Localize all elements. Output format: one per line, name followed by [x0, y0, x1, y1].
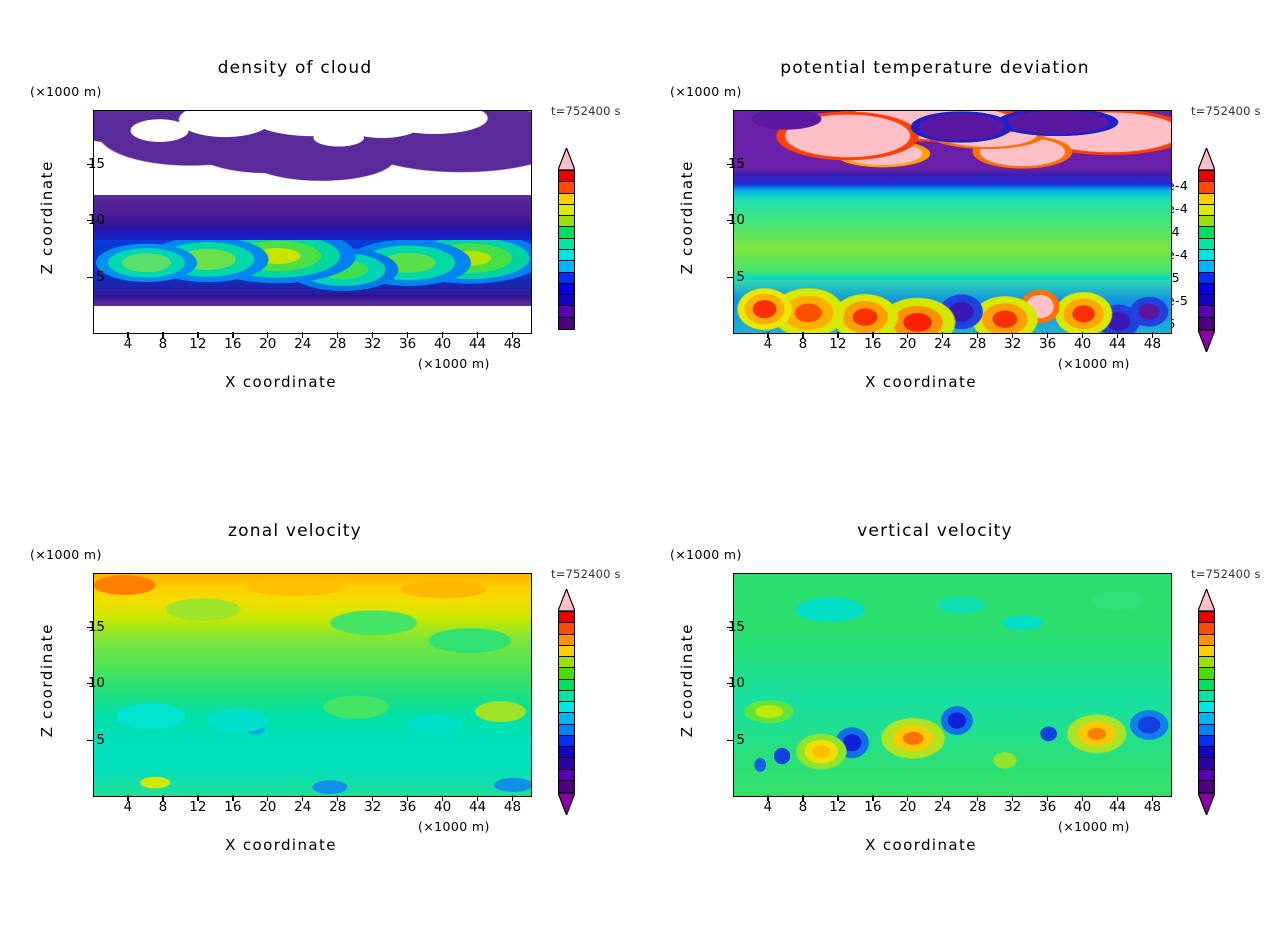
- colorbar-over-arrow: [558, 589, 575, 611]
- colorbar-segment: [559, 273, 574, 284]
- colorbar-segment: [559, 318, 574, 329]
- colorbar-segment: [1199, 691, 1214, 702]
- x-tick-label: 48: [498, 799, 528, 815]
- y-axis-unit: (×1000 m): [30, 84, 102, 99]
- x-tick-label: 36: [393, 336, 423, 352]
- colorbar-segment: [559, 691, 574, 702]
- y-tick-label: 5: [705, 269, 745, 285]
- colorbar-segment: [1199, 713, 1214, 724]
- colorbar-segment: [1199, 171, 1214, 182]
- x-tick-label: 40: [428, 799, 458, 815]
- colorbar-segment: [559, 216, 574, 227]
- x-tick-label: 4: [753, 336, 783, 352]
- colorbar-segment: [559, 770, 574, 781]
- x-axis-label: X coordinate: [640, 373, 1280, 391]
- x-tick-label: 12: [823, 336, 853, 352]
- panel-title: vertical velocity: [640, 521, 1280, 541]
- x-tick-label: 4: [113, 336, 143, 352]
- colorbar-segment: [1199, 306, 1214, 317]
- x-axis-label: X coordinate: [0, 373, 640, 391]
- colorbar-segment: [559, 171, 574, 182]
- x-tick-label: 48: [1138, 799, 1168, 815]
- colorbar-segment: [559, 306, 574, 317]
- x-axis-unit: (×1000 m): [418, 356, 490, 371]
- timestamp-label: t=752400 s: [551, 104, 621, 118]
- colorbar-segment: [559, 736, 574, 747]
- x-tick-label: 28: [323, 336, 353, 352]
- panel-zonal-velocity: zonal velocity (×1000 m) Z coordinate X …: [0, 463, 640, 926]
- x-tick-label: 44: [463, 799, 493, 815]
- y-tick-label: 5: [65, 732, 105, 748]
- x-tick-label: 16: [218, 336, 248, 352]
- x-tick-label: 24: [928, 336, 958, 352]
- x-tick-label: 28: [323, 799, 353, 815]
- colorbar-segment: [559, 239, 574, 250]
- x-tick-label: 12: [823, 799, 853, 815]
- colorbar-segment: [1199, 194, 1214, 205]
- x-tick-label: 8: [788, 336, 818, 352]
- colorbar-segment: [1199, 295, 1214, 306]
- x-tick-label: 24: [288, 336, 318, 352]
- y-tick-label: 15: [65, 619, 105, 635]
- y-tick-label: 5: [705, 732, 745, 748]
- colorbar-segment: [1199, 318, 1214, 329]
- colorbar-segment: [559, 725, 574, 736]
- colorbar-segment: [559, 623, 574, 634]
- x-tick-label: 4: [753, 799, 783, 815]
- colorbar-segment: [1199, 668, 1214, 679]
- x-tick-label: 44: [1103, 336, 1133, 352]
- colorbar-segment: [559, 227, 574, 238]
- x-tick-label: 16: [858, 799, 888, 815]
- x-axis-unit: (×1000 m): [1058, 819, 1130, 834]
- y-axis-unit: (×1000 m): [670, 547, 742, 562]
- x-tick-label: 32: [998, 799, 1028, 815]
- colorbar-segment: [1199, 284, 1214, 295]
- y-tick-label: 5: [65, 269, 105, 285]
- contour-field: [94, 574, 531, 796]
- colorbar-segment: [559, 680, 574, 691]
- colorbar-segment: [1199, 680, 1214, 691]
- colorbar-segment: [1199, 657, 1214, 668]
- x-tick-label: 28: [963, 799, 993, 815]
- panel-potential-temperature-deviation: potential temperature deviation (×1000 m…: [640, 0, 1280, 463]
- x-axis-label: X coordinate: [640, 836, 1280, 854]
- x-tick-label: 32: [358, 799, 388, 815]
- x-tick-label: 20: [253, 799, 283, 815]
- timestamp-label: t=752400 s: [551, 567, 621, 581]
- colorbar-segment: [1199, 623, 1214, 634]
- y-tick-label: 15: [705, 156, 745, 172]
- contour-field: [734, 574, 1171, 796]
- colorbar-segment: [1199, 216, 1214, 227]
- x-tick-label: 12: [183, 336, 213, 352]
- x-tick-label: 28: [963, 336, 993, 352]
- panel-title: density of cloud: [0, 58, 640, 78]
- y-tick-label: 10: [705, 212, 745, 228]
- x-tick-label: 44: [1103, 799, 1133, 815]
- colorbar-segment: [559, 194, 574, 205]
- x-tick-label: 20: [253, 336, 283, 352]
- x-tick-label: 32: [998, 336, 1028, 352]
- panel-density-of-cloud: density of cloud (×1000 m) Z coordinate …: [0, 0, 640, 463]
- y-tick-label: 15: [705, 619, 745, 635]
- colorbar-segment: [1199, 227, 1214, 238]
- colorbar-segment: [559, 702, 574, 713]
- colorbar-segment: [559, 758, 574, 769]
- colorbar-segment: [1199, 702, 1214, 713]
- colorbar-segment: [559, 713, 574, 724]
- colorbar-segment: [559, 668, 574, 679]
- x-tick-label: 40: [1068, 336, 1098, 352]
- x-tick-label: 48: [498, 336, 528, 352]
- colorbar-under-arrow: [558, 793, 575, 815]
- panel-title: potential temperature deviation: [640, 58, 1280, 78]
- colorbar-segment: [1199, 725, 1214, 736]
- colorbar-over-arrow: [558, 148, 575, 170]
- colorbar-segment: [559, 781, 574, 792]
- x-axis-unit: (×1000 m): [418, 819, 490, 834]
- colorbar-segment: [559, 205, 574, 216]
- colorbar-segment: [559, 635, 574, 646]
- colorbar-segment: [1199, 273, 1214, 284]
- x-tick-label: 8: [148, 799, 178, 815]
- x-axis-label: X coordinate: [0, 836, 640, 854]
- y-axis-label: Z coordinate: [678, 623, 696, 737]
- contour-field: [734, 111, 1171, 333]
- timestamp-label: t=752400 s: [1191, 567, 1261, 581]
- colorbar-segment: [1199, 182, 1214, 193]
- colorbar-segment: [559, 250, 574, 261]
- colorbar-over-arrow: [1198, 148, 1215, 170]
- x-tick-label: 4: [113, 799, 143, 815]
- x-tick-label: 20: [893, 336, 923, 352]
- x-tick-label: 36: [1033, 799, 1063, 815]
- timestamp-label: t=752400 s: [1191, 104, 1261, 118]
- colorbar-segment: [559, 284, 574, 295]
- x-tick-label: 40: [428, 336, 458, 352]
- x-tick-label: 44: [463, 336, 493, 352]
- x-tick-label: 12: [183, 799, 213, 815]
- colorbar-segment: [559, 182, 574, 193]
- colorbar-under-arrow: [1198, 330, 1215, 352]
- colorbar-over-arrow: [1198, 589, 1215, 611]
- colorbar-segment: [1199, 205, 1214, 216]
- x-tick-label: 20: [893, 799, 923, 815]
- x-tick-label: 8: [788, 799, 818, 815]
- x-tick-label: 40: [1068, 799, 1098, 815]
- x-tick-label: 36: [1033, 336, 1063, 352]
- colorbar-segment: [1199, 770, 1214, 781]
- colorbar-segment: [1199, 261, 1214, 272]
- colorbar-segment: [1199, 646, 1214, 657]
- y-axis-label: Z coordinate: [38, 623, 56, 737]
- colorbar-segment: [559, 747, 574, 758]
- y-tick-label: 15: [65, 156, 105, 172]
- x-tick-label: 16: [858, 336, 888, 352]
- plot-area-vertical: [733, 573, 1172, 797]
- contour-field: [94, 111, 531, 333]
- plot-area-theta: [733, 110, 1172, 334]
- colorbar-segment: [1199, 781, 1214, 792]
- colorbar-segment: [559, 295, 574, 306]
- colorbar-segment: [559, 646, 574, 657]
- panel-title: zonal velocity: [0, 521, 640, 541]
- x-tick-label: 8: [148, 336, 178, 352]
- x-tick-label: 24: [928, 799, 958, 815]
- colorbar-segment: [559, 657, 574, 668]
- x-tick-label: 48: [1138, 336, 1168, 352]
- y-axis-unit: (×1000 m): [30, 547, 102, 562]
- colorbar-under-arrow: [1198, 793, 1215, 815]
- y-axis-label: Z coordinate: [678, 160, 696, 274]
- colorbar-segment: [1199, 736, 1214, 747]
- colorbar-segment: [1199, 250, 1214, 261]
- colorbar-segment: [559, 261, 574, 272]
- colorbar-segment: [559, 612, 574, 623]
- plot-area-density: [93, 110, 532, 334]
- colorbar-segment: [1199, 612, 1214, 623]
- colorbar-segment: [1199, 635, 1214, 646]
- x-tick-label: 32: [358, 336, 388, 352]
- y-tick-label: 10: [65, 212, 105, 228]
- x-tick-label: 24: [288, 799, 318, 815]
- x-axis-unit: (×1000 m): [1058, 356, 1130, 371]
- x-tick-label: 16: [218, 799, 248, 815]
- y-tick-label: 10: [705, 675, 745, 691]
- colorbar-segment: [1199, 239, 1214, 250]
- colorbar-segment: [1199, 758, 1214, 769]
- panel-vertical-velocity: vertical velocity (×1000 m) Z coordinate…: [640, 463, 1280, 926]
- colorbar-segment: [1199, 747, 1214, 758]
- x-tick-label: 36: [393, 799, 423, 815]
- y-axis-unit: (×1000 m): [670, 84, 742, 99]
- y-axis-label: Z coordinate: [38, 160, 56, 274]
- plot-area-zonal: [93, 573, 532, 797]
- y-tick-label: 10: [65, 675, 105, 691]
